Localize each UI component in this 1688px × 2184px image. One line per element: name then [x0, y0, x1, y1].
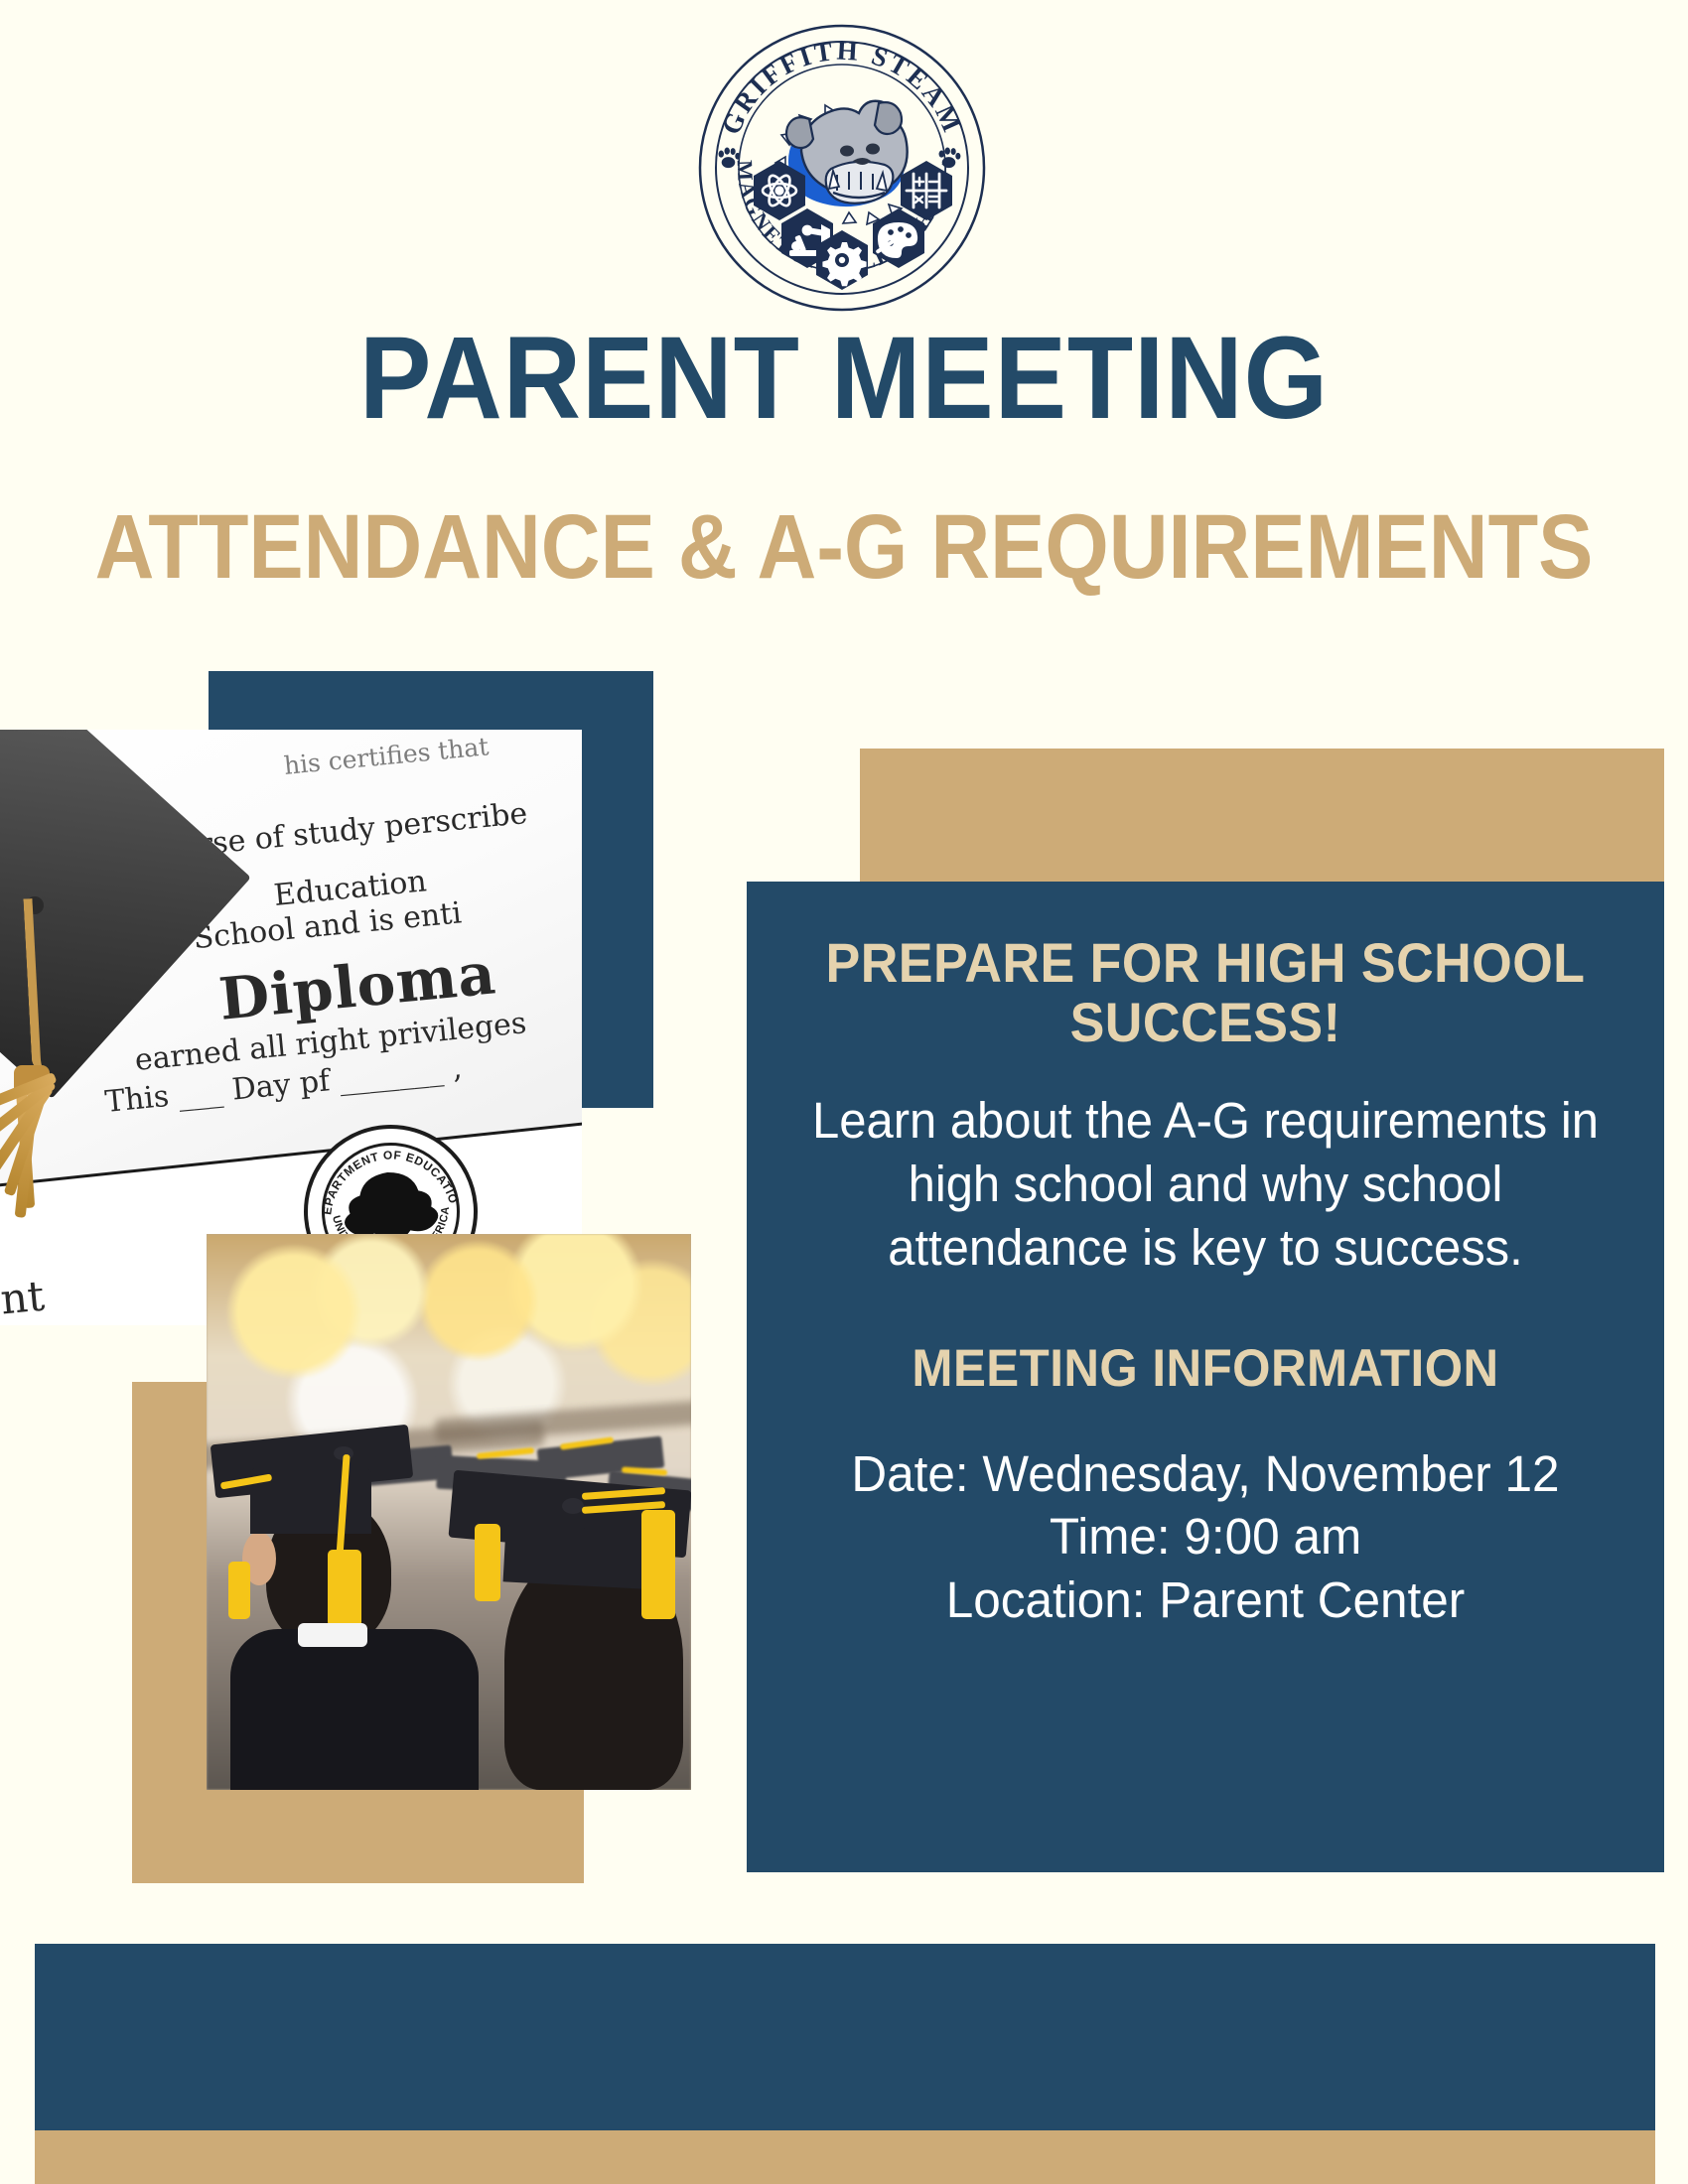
- decorative-tan-block-top: [860, 749, 1664, 893]
- flyer-poster: GRIFFITH STEAM MAGNET MIDDLE SCHOOL: [0, 0, 1688, 2184]
- meeting-date: Date: Wednesday, November 12: [806, 1442, 1604, 1506]
- footer-navy-bar: [35, 1944, 1655, 2130]
- page-subtitle: ATTENDANCE & A-G REQUIREMENTS: [84, 501, 1604, 593]
- cap-crown-right: [503, 1524, 647, 1588]
- panel-heading: PREPARE FOR HIGH SCHOOL SUCCESS!: [823, 933, 1588, 1053]
- svg-text:DEPARTMENT OF EDUCATION: DEPARTMENT OF EDUCATION: [301, 1122, 461, 1218]
- cap-button-right: [562, 1498, 584, 1514]
- tassel-right: [641, 1510, 675, 1619]
- diploma-text-line-7: ent: [0, 1272, 47, 1325]
- meeting-location: Location: Parent Center: [806, 1569, 1604, 1632]
- footer-tan-bar: [35, 2130, 1655, 2184]
- tassel-left: [328, 1550, 361, 1627]
- meeting-details: Date: Wednesday, November 12 Time: 9:00 …: [806, 1442, 1604, 1632]
- shirt-collar: [298, 1623, 367, 1647]
- student-gown-left: [230, 1629, 479, 1790]
- meeting-time: Time: 9:00 am: [806, 1505, 1604, 1569]
- meeting-information-heading: MEETING INFORMATION: [823, 1338, 1588, 1399]
- page-title: PARENT MEETING: [68, 320, 1620, 437]
- meeting-info-panel: PREPARE FOR HIGH SCHOOL SUCCESS! Learn a…: [747, 882, 1664, 1872]
- graduates-photo: [207, 1234, 691, 1790]
- tassel-middle: [475, 1524, 500, 1601]
- panel-body-text: Learn about the A-G requirements in high…: [811, 1089, 1601, 1281]
- tassel-left-second: [228, 1562, 250, 1619]
- school-logo: GRIFFITH STEAM MAGNET MIDDLE SCHOOL: [698, 24, 986, 312]
